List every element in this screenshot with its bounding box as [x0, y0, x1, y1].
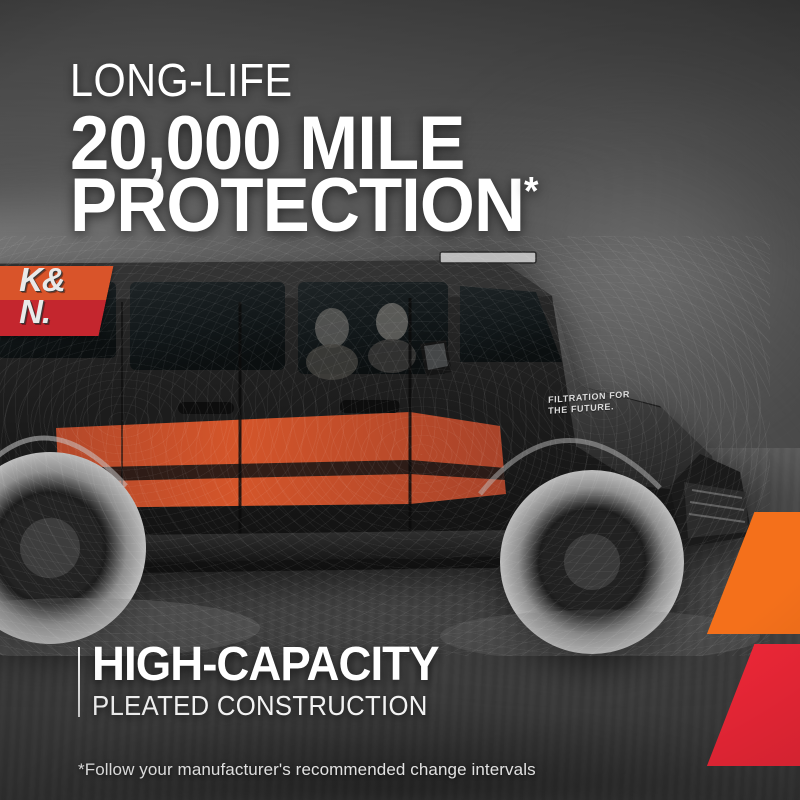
kn-logo-wordmark: K& N. [19, 266, 65, 328]
footnote-text: *Follow your manufacturer's recommended … [78, 760, 536, 779]
vehicle-svg [0, 236, 770, 656]
headline-asterisk: * [524, 170, 538, 214]
feature-title: HIGH-CAPACITY [92, 641, 439, 689]
headline-kicker: LONG-LIFE [70, 57, 293, 103]
feature-divider-rule [78, 647, 80, 717]
kn-logo-line-2: N. [19, 296, 65, 328]
feature-subtitle: PLEATED CONSTRUCTION [92, 692, 428, 720]
promo-banner: K& N. FILTRATION FOR THE FUTURE. LONG-LI… [0, 0, 800, 800]
headline-line-2-text: PROTECTION [70, 163, 524, 248]
vehicle-illustration [0, 236, 770, 656]
kn-logo: K& N. [0, 266, 113, 336]
kn-logo-line-1: K& [19, 266, 65, 296]
headline-line-2: PROTECTION* [70, 168, 539, 244]
